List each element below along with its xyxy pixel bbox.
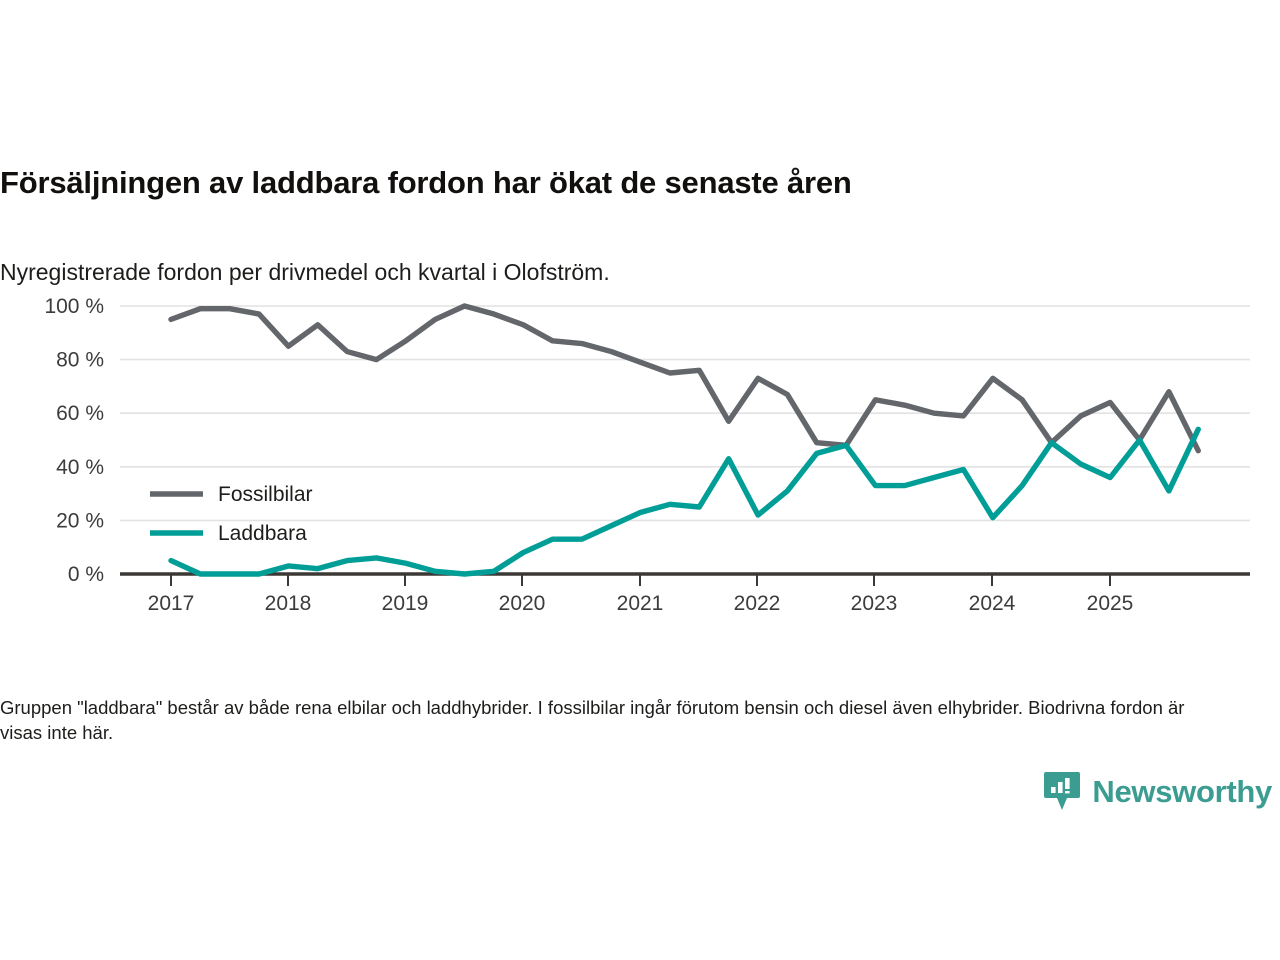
chart-page: Försäljningen av laddbara fordon har öka… <box>0 0 1280 960</box>
ytick-label-100: 100 % <box>44 295 104 318</box>
ytick-label-80: 80 % <box>56 349 104 372</box>
legend-label-fossilbilar: Fossilbilar <box>218 483 313 506</box>
x-axis-tick-labels: 2017 2018 2019 2020 2021 2022 2023 2024 … <box>148 592 1134 615</box>
y-axis-tick-labels: 100 % 80 % 60 % 40 % 20 % 0 % <box>44 295 104 586</box>
xtick-label-2023: 2023 <box>851 592 898 615</box>
logo-wordmark: Newsworthy <box>1092 776 1272 807</box>
line-chart-svg: 100 % 80 % 60 % 40 % 20 % 0 % 201 <box>0 286 1280 626</box>
chart-legend: Fossilbilar Laddbara <box>150 483 313 545</box>
xtick-label-2020: 2020 <box>499 592 546 615</box>
ytick-label-20: 20 % <box>56 509 104 532</box>
xtick-label-2019: 2019 <box>382 592 429 615</box>
newsworthy-bar-chart-pin-icon <box>1043 770 1081 812</box>
chart-subtitle: Nyregistrerade fordon per drivmedel och … <box>0 259 1260 287</box>
ytick-label-60: 60 % <box>56 402 104 425</box>
ytick-label-40: 40 % <box>56 456 104 479</box>
xtick-label-2021: 2021 <box>617 592 664 615</box>
x-axis-ticks <box>171 574 1110 586</box>
page-title: Försäljningen av laddbara fordon har öka… <box>0 165 1260 201</box>
xtick-label-2017: 2017 <box>148 592 195 615</box>
chart-footnote: Gruppen "laddbara" består av både rena e… <box>0 695 1230 746</box>
xtick-label-2022: 2022 <box>734 592 781 615</box>
ytick-label-0: 0 % <box>68 563 104 586</box>
xtick-label-2025: 2025 <box>1087 592 1134 615</box>
legend-label-laddbara: Laddbara <box>218 522 307 545</box>
newsworthy-logo: Newsworthy <box>1043 770 1272 812</box>
series-line-laddbara <box>171 429 1198 574</box>
series-line-fossilbilar <box>171 306 1198 451</box>
xtick-label-2018: 2018 <box>265 592 312 615</box>
chart-plot-area: 100 % 80 % 60 % 40 % 20 % 0 % 201 <box>0 286 1280 626</box>
xtick-label-2024: 2024 <box>969 592 1016 615</box>
